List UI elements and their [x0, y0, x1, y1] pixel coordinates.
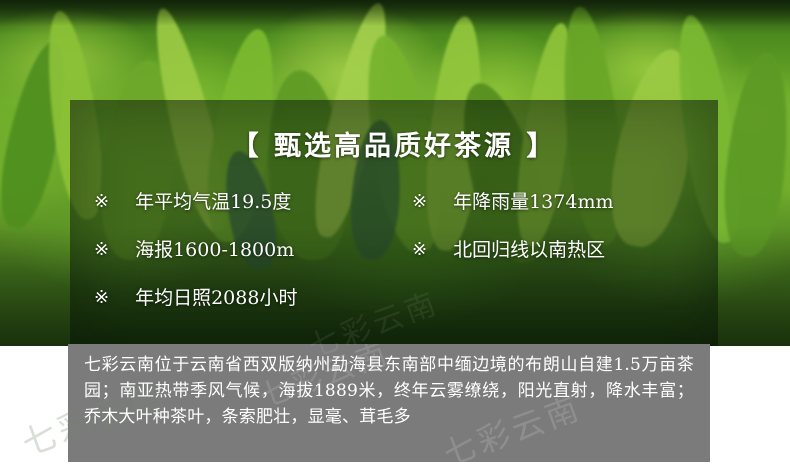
- facts-row: ※ 海报1600-1800m ※ 北回归线以南热区: [70, 226, 718, 274]
- fact-item: ※ 年平均气温19.5度: [70, 193, 400, 212]
- highlights-panel: 【 甄选高品质好茶源 】 ※ 年平均气温19.5度 ※ 年降雨量1374mm ※…: [70, 100, 718, 346]
- fact-label: 海报1600-1800m: [135, 241, 294, 260]
- asterisk-mark-icon: ※: [94, 241, 109, 259]
- asterisk-mark-icon: ※: [412, 241, 427, 259]
- description-box: 七彩云南 七彩云南 七彩云南位于云南省西双版纳州勐海县东南部中缅边境的布朗山自建…: [68, 344, 710, 462]
- facts-row: ※ 年平均气温19.5度 ※ 年降雨量1374mm: [70, 178, 718, 226]
- facts-row: ※ 年均日照2088小时: [70, 274, 718, 322]
- fact-item: ※ 年均日照2088小时: [70, 289, 400, 308]
- fact-item: ※ 海报1600-1800m: [70, 241, 400, 260]
- fact-item: ※ 北回归线以南热区: [400, 241, 718, 260]
- description-text: 七彩云南位于云南省西双版纳州勐海县东南部中缅边境的布朗山自建1.5万亩茶园；南亚…: [84, 352, 694, 430]
- fact-item: ※ 年降雨量1374mm: [400, 193, 718, 212]
- fact-label: 年均日照2088小时: [135, 289, 297, 308]
- product-detail-image: 【 甄选高品质好茶源 】 ※ 年平均气温19.5度 ※ 年降雨量1374mm ※…: [0, 0, 790, 474]
- asterisk-mark-icon: ※: [94, 289, 109, 307]
- panel-title: 【 甄选高品质好茶源 】: [70, 124, 718, 163]
- asterisk-mark-icon: ※: [94, 193, 109, 211]
- asterisk-mark-icon: ※: [412, 193, 427, 211]
- fact-label: 年降雨量1374mm: [453, 193, 613, 212]
- photo-top-shadow: [0, 0, 790, 26]
- fact-label: 北回归线以南热区: [453, 241, 605, 260]
- fact-label: 年平均气温19.5度: [135, 193, 291, 212]
- facts-list: ※ 年平均气温19.5度 ※ 年降雨量1374mm ※ 海报1600-1800m…: [70, 178, 718, 322]
